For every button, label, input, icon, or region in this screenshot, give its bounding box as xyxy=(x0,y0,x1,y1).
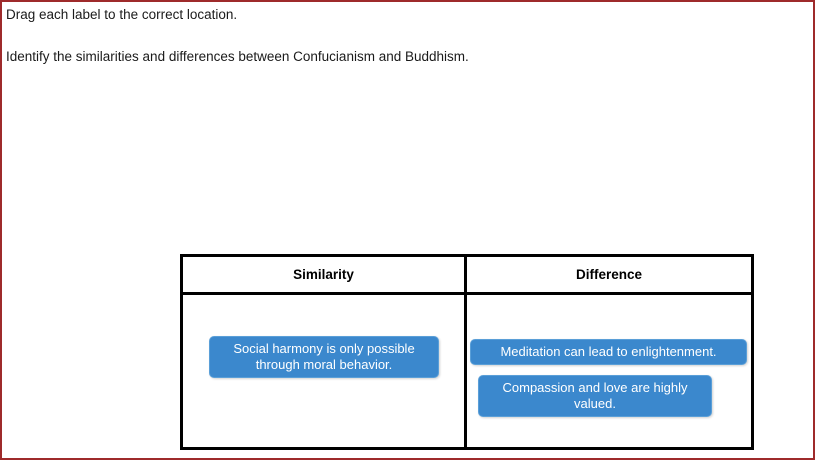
similarity-difference-table: Similarity Difference Social harmony is … xyxy=(180,254,754,450)
table-body-row: Social harmony is only possible through … xyxy=(183,295,751,447)
drag-label-compassion-love[interactable]: Compassion and love are highly valued. xyxy=(478,375,712,417)
instruction-spacer xyxy=(6,25,786,46)
instructions-block: Drag each label to the correct location.… xyxy=(6,4,786,67)
page-frame: Drag each label to the correct location.… xyxy=(0,0,815,460)
table-header-row: Similarity Difference xyxy=(183,257,751,295)
drag-label-meditation-enlightenment[interactable]: Meditation can lead to enlightenment. xyxy=(470,339,747,365)
drag-label-social-harmony[interactable]: Social harmony is only possible through … xyxy=(209,336,439,378)
column-header-similarity: Similarity xyxy=(183,257,467,292)
instruction-drag-prompt: Drag each label to the correct location. xyxy=(6,4,786,25)
instruction-question: Identify the similarities and difference… xyxy=(6,46,786,67)
column-header-difference: Difference xyxy=(467,257,751,292)
dropzone-difference[interactable]: Meditation can lead to enlightenment. Co… xyxy=(467,295,751,447)
dropzone-similarity[interactable]: Social harmony is only possible through … xyxy=(183,295,467,447)
page-content: Drag each label to the correct location.… xyxy=(2,2,813,458)
